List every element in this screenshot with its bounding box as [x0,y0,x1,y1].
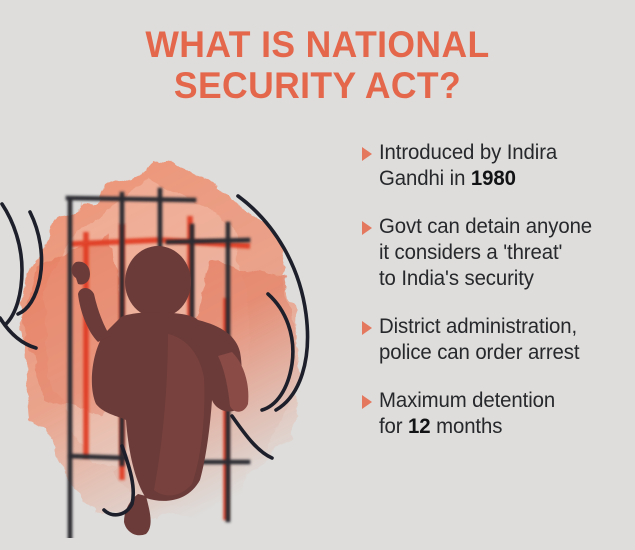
illustration-svg [0,128,350,538]
list-item: Maximum detentionfor 12 months [362,388,630,440]
list-item: Introduced by IndiraGandhi in 1980 [362,140,630,192]
title-line-2: SECURITY ACT? [20,65,614,106]
bullet-4-line-2-post: months [431,415,503,438]
illustration-layers [0,158,308,538]
list-item-text: Introduced by IndiraGandhi in 1980 [379,140,622,192]
list-item-text: Maximum detentionfor 12 months [379,388,622,440]
bullet-4-line-1: Maximum detention [379,389,555,412]
bullet-2-line-3: to India's security [379,267,534,290]
bullet-1-line-1: Introduced by Indira [379,141,557,164]
triangle-right-icon [362,395,372,409]
prisoner-behind-bars-illustration [0,128,350,538]
title-line-1: WHAT IS NATIONAL [20,24,614,65]
bullet-4-bold: 12 [408,415,430,438]
triangle-right-icon [362,321,372,335]
list-item: District administration,police can order… [362,314,630,366]
triangle-right-icon [362,221,372,235]
bullet-3-line-1: District administration, [379,315,577,338]
bullet-4-line-2-pre: for [379,415,408,438]
list-item: Govt can detain anyoneit considers a 'th… [362,214,630,292]
fact-list: Introduced by IndiraGandhi in 1980 Govt … [362,140,630,440]
infographic-root: WHAT IS NATIONAL SECURITY ACT? [0,0,635,550]
bullet-2-line-2: it considers a 'threat' [379,241,562,264]
list-item-text: Govt can detain anyoneit considers a 'th… [379,214,622,292]
bullet-3-line-2: police can order arrest [379,341,579,364]
triangle-right-icon [362,147,372,161]
bullet-1-line-2-pre: Gandhi in [379,167,471,190]
bullet-2-line-1: Govt can detain anyone [379,215,592,238]
page-title: WHAT IS NATIONAL SECURITY ACT? [0,24,635,106]
bullet-1-bold: 1980 [471,167,516,190]
figure-head [125,246,191,318]
list-item-text: District administration,police can order… [379,314,622,366]
